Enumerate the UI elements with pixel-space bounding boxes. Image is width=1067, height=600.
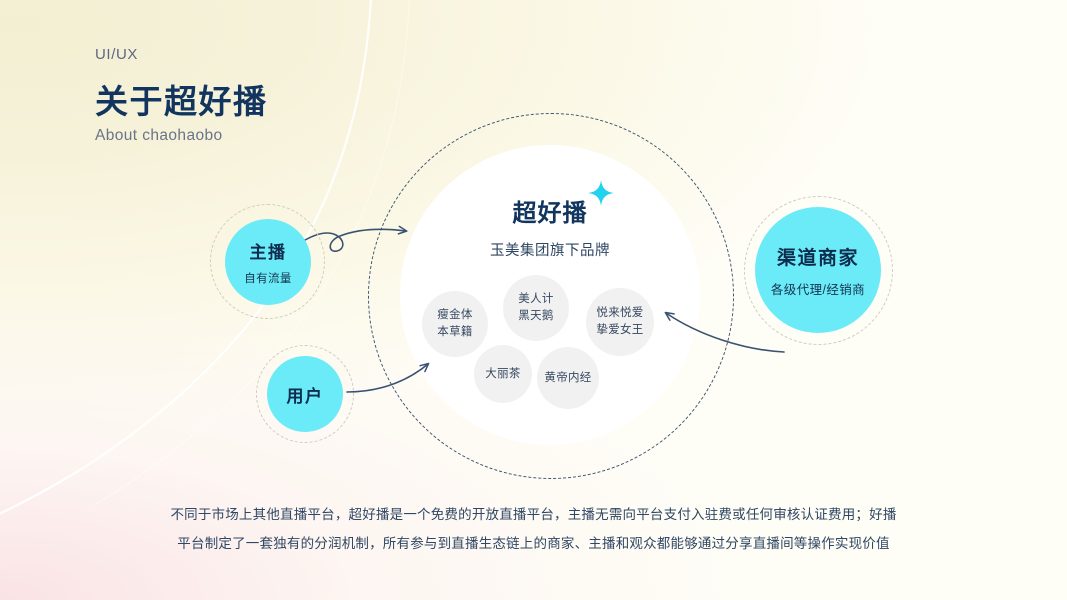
node-title: 主播: [250, 238, 287, 263]
footer-paragraph: 不同于市场上其他直播平台，超好播是一个免费的开放直播平台，主播无需向平台支付入驻…: [0, 500, 1067, 558]
arrow-user-to-center: [347, 364, 428, 392]
node-anchor[interactable]: 主播 自有流量: [210, 204, 326, 320]
slide-canvas: UI/UX 关于超好播 About chaohaobo 瘦金体 本草籍 美人计 …: [0, 0, 1067, 600]
node-user[interactable]: 用户: [256, 345, 355, 444]
node-disc[interactable]: 用户: [267, 356, 343, 432]
footer-line: 平台制定了一套独有的分润机制，所有参与到直播生态链上的商家、主播和观众都能够通过…: [0, 529, 1067, 558]
node-channel[interactable]: 渠道商家 各级代理/经销商: [744, 196, 894, 346]
node-disc[interactable]: 主播 自有流量: [225, 219, 311, 305]
footer-line: 不同于市场上其他直播平台，超好播是一个免费的开放直播平台，主播无需向平台支付入驻…: [0, 500, 1067, 529]
node-subtitle: 自有流量: [244, 270, 292, 286]
node-title: 渠道商家: [777, 243, 859, 270]
node-subtitle: 各级代理/经销商: [771, 279, 865, 298]
node-title: 用户: [287, 382, 324, 407]
node-disc[interactable]: 渠道商家 各级代理/经销商: [755, 207, 881, 333]
